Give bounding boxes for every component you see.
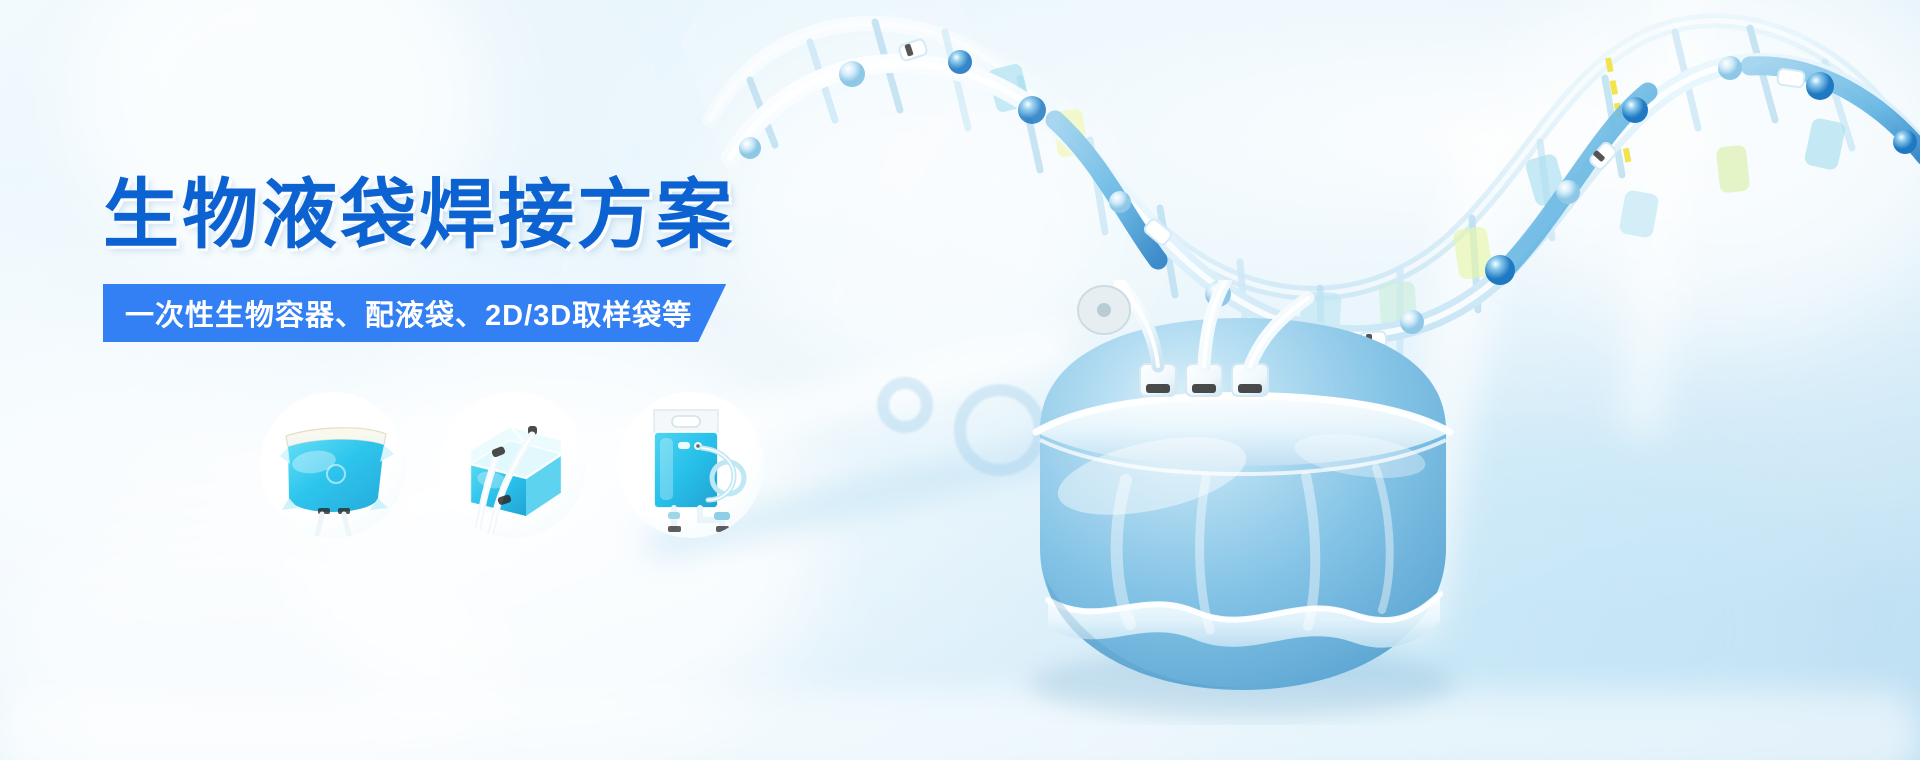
pillow-bag-icon (260, 392, 406, 538)
product-thumb-sampling-bag[interactable] (618, 392, 764, 538)
sampling-bag-icon (618, 392, 764, 538)
subtitle-bar: 一次性生物容器、配液袋、2D/3D取样袋等 (103, 284, 726, 342)
page-title: 生物液袋焊接方案 (103, 178, 735, 254)
product-thumb-3d-bag[interactable] (440, 392, 586, 538)
cube-bag-icon (440, 392, 586, 538)
bokeh-blob (0, 500, 500, 760)
subtitle-text: 一次性生物容器、配液袋、2D/3D取样袋等 (125, 292, 692, 334)
product-thumb-2d-bag[interactable] (260, 392, 406, 538)
hero-banner: 生物液袋焊接方案 一次性生物容器、配液袋、2D/3D取样袋等 (0, 0, 1920, 760)
3d-bioreactor-bag-icon (890, 280, 1590, 730)
